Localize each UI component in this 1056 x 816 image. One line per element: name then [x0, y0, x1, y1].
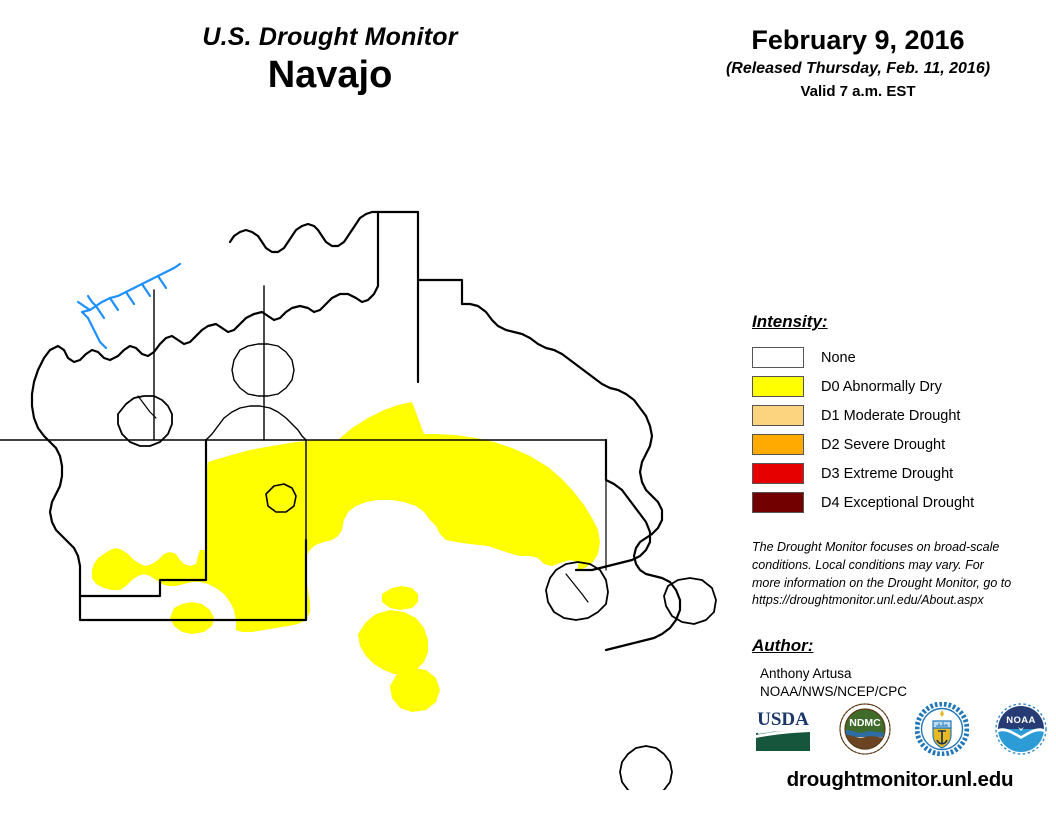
legend-title: Intensity: [752, 312, 1052, 332]
legend-item-none[interactable]: None [752, 343, 1052, 372]
usda-logo[interactable]: USDA [752, 705, 814, 758]
legend-label-d2: D2 Severe Drought [821, 437, 945, 453]
legend-swatch-d4 [752, 492, 804, 513]
legend-swatch-d3 [752, 463, 804, 484]
legend-item-d1[interactable]: D1 Moderate Drought [752, 401, 1052, 430]
legend-label-d1: D1 Moderate Drought [821, 408, 960, 424]
drought-map[interactable] [0, 150, 740, 790]
legend-label-d0: D0 Abnormally Dry [821, 379, 942, 395]
legend-item-d3[interactable]: D3 Extreme Drought [752, 459, 1052, 488]
noaa-logo[interactable]: NOAA [994, 702, 1048, 761]
author-affiliation: NOAA/NWS/NCEP/CPC [760, 683, 1052, 701]
legend-swatch-d1 [752, 405, 804, 426]
legend-swatch-d0 [752, 376, 804, 397]
legend-label-none: None [821, 350, 856, 366]
commerce-seal[interactable] [915, 702, 969, 761]
drought-area-d0 [92, 402, 600, 712]
logo-row: USDA NDMC [752, 702, 1048, 761]
map-svg [0, 150, 740, 790]
legend-label-d3: D3 Extreme Drought [821, 466, 953, 482]
header-right-block: February 9, 2016 (Released Thursday, Feb… [660, 26, 1056, 100]
author-name: Anthony Artusa [760, 665, 1052, 683]
legend-swatch-none [752, 347, 804, 368]
author-heading: Author: [752, 636, 1052, 656]
footer-url[interactable]: droughtmonitor.unl.edu [752, 768, 1048, 792]
svg-text:USDA: USDA [757, 709, 809, 730]
river-colorado [78, 264, 180, 348]
svg-text:NOAA: NOAA [1006, 715, 1036, 726]
legend-label-d4: D4 Exceptional Drought [821, 495, 974, 511]
valid-time: Valid 7 a.m. EST [660, 83, 1056, 100]
legend-item-d4[interactable]: D4 Exceptional Drought [752, 488, 1052, 517]
header-left-block: U.S. Drought Monitor Navajo [0, 24, 660, 97]
legend-panel: Intensity: None D0 Abnormally Dry D1 Mod… [752, 312, 1052, 701]
legend-item-d2[interactable]: D2 Severe Drought [752, 430, 1052, 459]
author-info: Anthony Artusa NOAA/NWS/NCEP/CPC [760, 665, 1052, 701]
region-title: Navajo [0, 54, 660, 98]
disclaimer-text: The Drought Monitor focuses on broad-sca… [752, 539, 1014, 610]
legend-item-d0[interactable]: D0 Abnormally Dry [752, 372, 1052, 401]
legend-swatch-d2 [752, 434, 804, 455]
page-title: U.S. Drought Monitor [0, 24, 660, 52]
release-date: (Released Thursday, Feb. 11, 2016) [660, 60, 1056, 78]
ndmc-logo[interactable]: NDMC [839, 703, 891, 760]
svg-text:NDMC: NDMC [849, 717, 881, 729]
map-date: February 9, 2016 [660, 26, 1056, 56]
